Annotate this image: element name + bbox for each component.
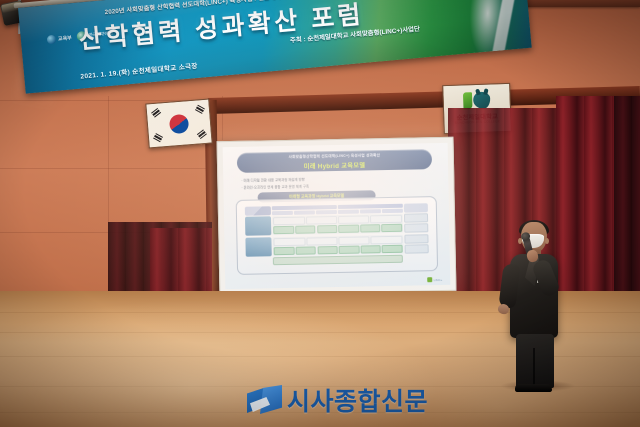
scene-vignette (0, 0, 640, 427)
photo-scene: 교육부 한국연구재단 2020년 사회맞춤형 산학협력 선도대학(LINC+) … (0, 0, 640, 427)
